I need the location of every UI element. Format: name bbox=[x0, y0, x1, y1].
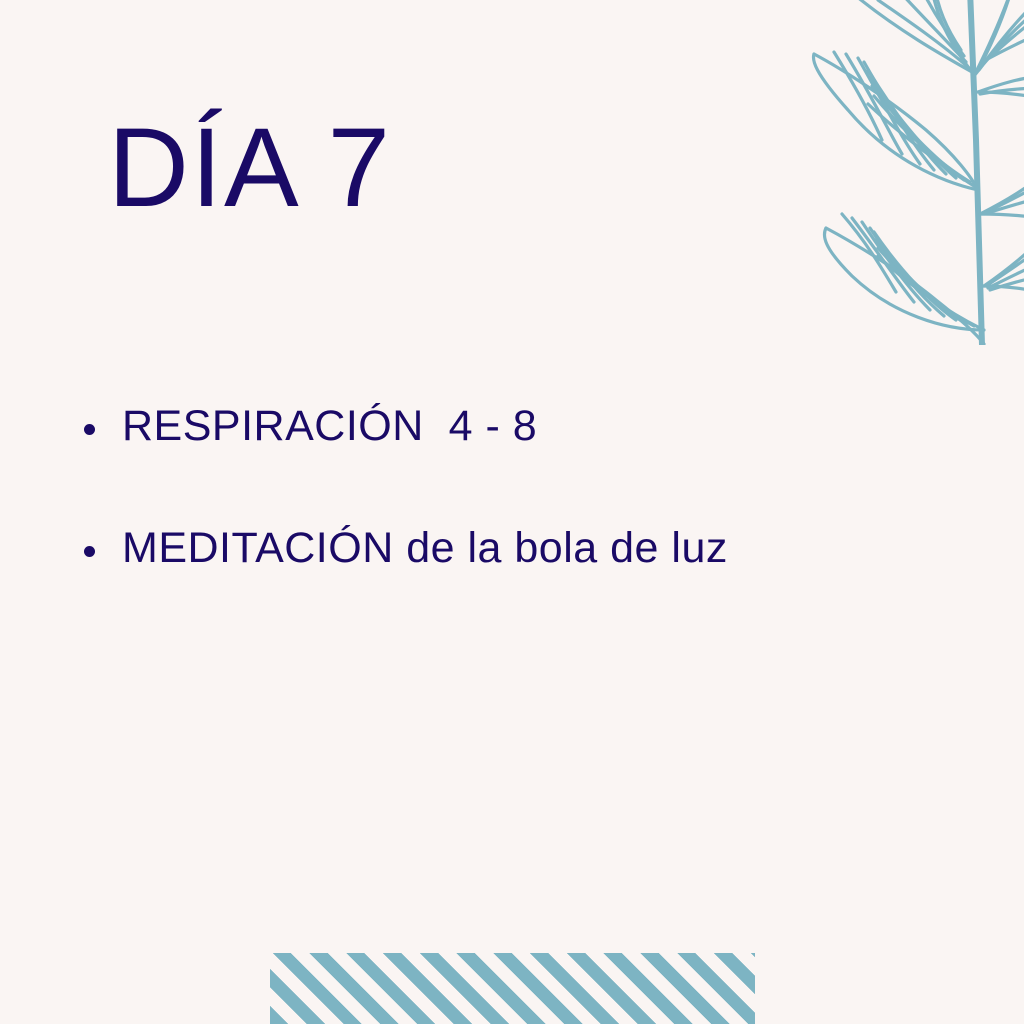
list-item-label: MEDITACIÓN de la bola de luz bbox=[122, 524, 728, 573]
leaf-lower-left bbox=[824, 214, 984, 344]
leaf-right-small bbox=[978, 76, 1024, 98]
diagonal-striped-band bbox=[270, 953, 755, 1024]
list-item: RESPIRACIÓN 4 - 8 bbox=[84, 402, 984, 451]
list-item: MEDITACIÓN de la bola de luz bbox=[84, 524, 984, 573]
leaf-upper-left bbox=[856, 0, 972, 72]
leaf-lower-right bbox=[984, 226, 1024, 296]
bullet-dot-icon bbox=[84, 424, 95, 435]
leaf-mid-right bbox=[980, 164, 1024, 222]
list-item-label: RESPIRACIÓN 4 - 8 bbox=[122, 402, 537, 451]
botanical-leaf-illustration bbox=[794, 0, 1024, 345]
bullet-dot-icon bbox=[84, 546, 95, 557]
stem bbox=[970, 0, 982, 345]
activity-list: RESPIRACIÓN 4 - 8 MEDITACIÓN de la bola … bbox=[84, 402, 984, 647]
leaf-mid-left bbox=[813, 52, 978, 190]
leaf-upper-right bbox=[974, 0, 1024, 76]
slide-canvas: DÍA 7 RESPIRACIÓN 4 - 8 MEDITACIÓN de la… bbox=[0, 0, 1024, 1024]
botanical-svg bbox=[794, 0, 1024, 345]
page-title: DÍA 7 bbox=[108, 112, 392, 224]
